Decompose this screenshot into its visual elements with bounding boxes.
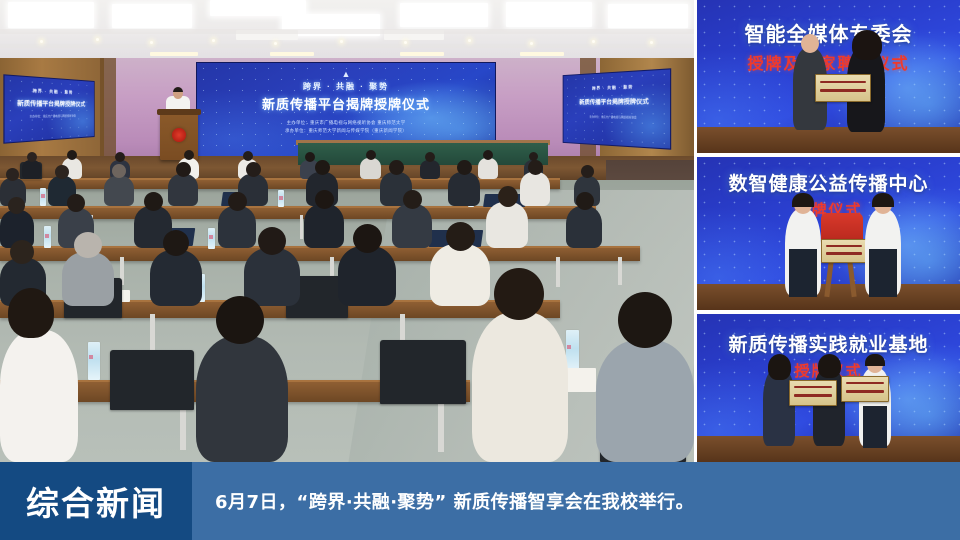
audience-person [430,244,490,306]
audience-head [176,162,191,177]
panel-2-title: 数智健康公益传播中心 [697,169,960,196]
speaker-hair [173,87,183,92]
audience-head [27,152,37,162]
audience-person [150,250,202,306]
panel-digital-health-public-welfare-center: 数智健康公益传播中心 揭牌仪式 [697,157,960,310]
audience-seat [380,340,466,404]
audience-head [67,194,85,212]
news-category-label: 综合新闻 [26,477,166,525]
audience-head [446,222,475,251]
panel-2-hair-right [872,193,894,207]
audience-person [478,158,498,179]
audience-head [494,268,544,320]
audience-person [304,204,344,248]
panel-stage-floor [697,127,960,153]
screenshot-root: 跨界 · 共融 · 聚势 新质传播平台揭牌授牌仪式 主办单位：重庆市广播电视与网… [0,0,960,540]
audience-head [8,197,25,214]
audience-head [528,160,543,175]
audience-person [448,172,480,206]
audience-head [6,168,19,181]
audience-head-grey [74,232,102,258]
screen-dot-pattern [5,75,94,142]
bottom-banner: 综合新闻 6月7日，“跨界·共融·聚势” 新质传播智享会在我校举行。 [0,462,960,540]
audience-head [228,192,247,211]
panel-1-subtitle: 授牌及专家聘任仪式 [697,50,960,74]
podium-emblem-icon [172,128,186,142]
panel-1-head-left [801,34,819,53]
audience-head [216,296,264,344]
audience-head [184,150,194,160]
screen-subtitle-line-1: 主办单位：重庆市广播电视与网络视听协会 重庆师范大学 [197,119,495,126]
news-caption: 6月7日，“跨界·共融·聚势” 新质传播智享会在我校举行。 [215,462,940,540]
water-bottle [88,342,100,380]
podium-top [157,109,201,115]
audience-person [0,330,78,462]
audience-head [618,292,672,348]
panel-3-hair-mid [818,354,841,378]
audience-head [258,227,286,255]
panel-new-quality-communication-practice-base: 新质传播实践就业基地 授牌仪式 [697,314,960,462]
screen-title: 新质传播平台揭牌授牌仪式 [197,94,495,113]
audience-person [486,202,528,248]
screen-subtitle-line-2: 承办单位：重庆师范大学新闻与传媒学院（重庆新闻学院） [197,127,495,134]
panel-intelligent-all-media-committee: 智能全媒体专委会 授牌及专家聘任仪式 [697,0,960,153]
audience-person [420,160,440,179]
audience-head [8,288,54,338]
audience-person [22,160,41,179]
panel-1-plaque [815,74,871,102]
main-conference-photo: 跨界 · 共融 · 聚势 新质传播平台揭牌授牌仪式 主办单位：重庆市广播电视与网… [0,0,694,462]
audience-person [596,340,694,462]
audience-head [144,192,163,211]
audience-head [403,190,422,209]
screen-logo-icon: ▲ [197,70,495,79]
audience-head [315,190,334,209]
audience-head [315,160,330,175]
panel-2-hair-left [792,193,814,207]
audience-seat [110,350,194,410]
audience-head [115,152,125,162]
screen-dot-pattern [563,69,670,148]
panel-2-trousers-right [869,249,897,297]
audience-head [425,152,435,162]
audience-head [389,160,404,175]
audience-head [243,151,253,161]
audience-head [112,164,126,178]
audience-head [576,192,594,210]
audience-head [581,165,594,178]
audience-person [218,206,256,248]
audience-person [392,204,432,248]
audience-person [338,246,396,306]
audience-head [163,230,189,256]
audience-head [498,186,518,207]
audience-head [366,150,376,160]
audience-head [10,240,34,264]
audience-head [483,150,493,160]
audience-person [62,252,114,306]
panel-2-trousers-left [789,249,817,297]
panel-3-title: 新质传播实践就业基地 [697,330,960,357]
side-screen-right-title: 新质传播平台揭牌授牌仪式 [563,96,670,106]
side-screen-right: 跨界 · 共融 · 聚势 新质传播平台揭牌授牌仪式 主办单位：重庆市广播电视与网… [563,68,672,149]
right-panel-column: 智能全媒体专委会 授牌及专家聘任仪式 数智健康公益传播中心 揭牌仪式 [697,0,960,462]
audience-person [168,174,198,206]
ceiling [0,0,694,62]
audience-person [472,312,568,462]
water-bottle [208,228,215,249]
audience-person [244,248,300,306]
water-bottle [278,190,284,207]
panel-3-hair-right [865,354,885,366]
audience-person [360,158,381,179]
screen-tagline: 跨界 · 共融 · 聚势 [197,81,495,92]
panel-3-hair-left [768,354,791,380]
audience-person [196,336,288,462]
audience-head [305,152,315,162]
water-bottle [44,226,51,248]
side-screen-left: 跨界 · 共融 · 聚势 新质传播平台揭牌授牌仪式 主办单位：重庆市广播电视与网… [3,74,94,144]
panel-3-trousers-right [863,406,887,448]
side-screen-left-title: 新质传播平台揭牌授牌仪式 [5,98,94,108]
audience-head [457,160,472,175]
news-category-block: 综合新闻 [0,462,192,540]
panel-3-plaque-right [841,376,889,402]
panel-1-title: 智能全媒体专委会 [697,18,960,47]
panel-1-hair [852,30,882,60]
audience-person [104,176,134,206]
audience-head [67,150,77,160]
audience-head [246,162,261,177]
audience-head [353,224,382,253]
panel-2-plaque [821,239,867,263]
panel-3-plaque-left [789,380,837,406]
audience-person [566,206,602,248]
audience-person [520,172,550,206]
audience-head [55,165,69,179]
water-bottle [566,330,579,372]
water-bottle [40,188,46,206]
